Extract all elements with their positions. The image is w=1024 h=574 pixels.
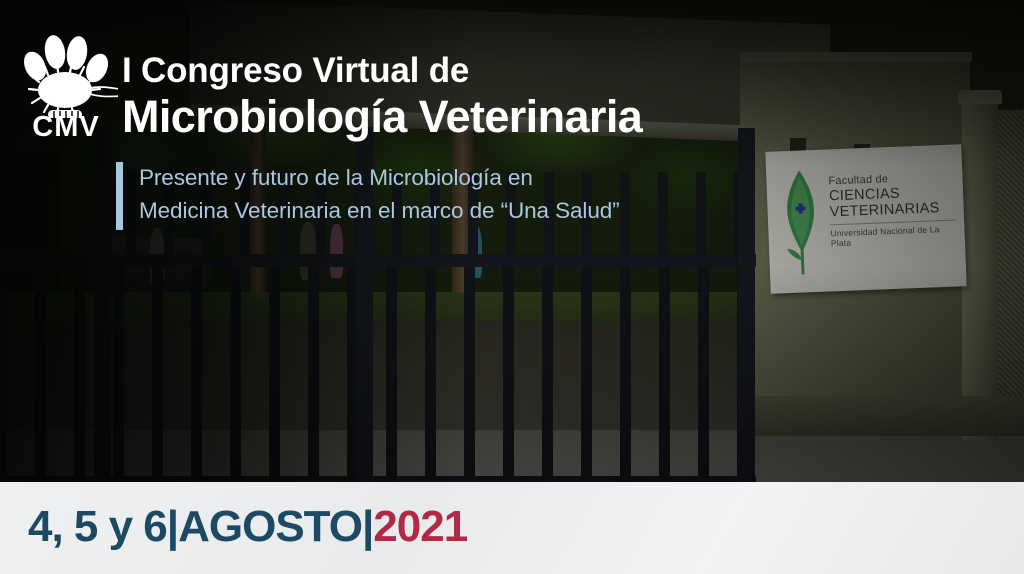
date-month: AGOSTO (178, 502, 362, 551)
poster-footer: 4, 5 y 6|AGOSTO|2021 Facultad de Ciencia… (0, 482, 1024, 574)
subtitle-text: Presente y futuro de la Microbiología en… (139, 162, 620, 230)
cmv-logo: CMV (14, 30, 118, 140)
subtitle-line-2: Medicina Veterinaria en el marco de “Una… (139, 195, 620, 228)
title-line-1: I Congreso Virtual de (122, 52, 762, 90)
date-separator-1: | (167, 502, 178, 551)
date-separator-2: | (362, 502, 373, 551)
paw-microbe-icon (14, 30, 118, 118)
subtitle-accent-bar (116, 162, 123, 230)
poster-subtitle: Presente y futuro de la Microbiología en… (116, 162, 620, 230)
subtitle-line-1: Presente y futuro de la Microbiología en (139, 162, 620, 195)
congress-poster: Facultad de CIENCIAS VETERINARIAS Univer… (0, 0, 1024, 574)
title-line-2: Microbiología Veterinaria (122, 92, 762, 142)
date-days: 4, 5 y 6 (28, 502, 167, 551)
date-year: 2021 (373, 502, 467, 551)
cmv-logo-text: CMV (14, 113, 118, 142)
event-date: 4, 5 y 6|AGOSTO|2021 (28, 502, 467, 552)
poster-title: I Congreso Virtual de Microbiología Vete… (122, 52, 762, 141)
